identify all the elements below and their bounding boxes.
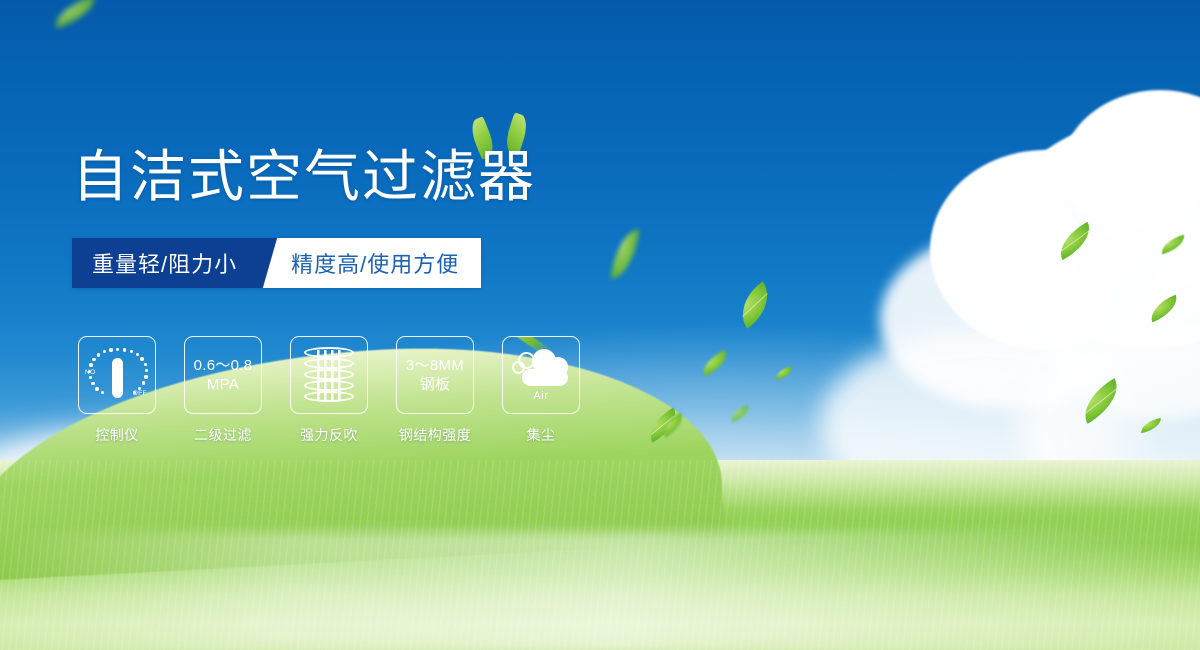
cloud-base <box>522 369 568 386</box>
dial-needle <box>112 358 123 398</box>
filter-cartridge-icon <box>304 346 354 404</box>
banner-content: 自洁式空气过滤器 重量轻/阻力小 精度高/使用方便 <box>0 0 1200 650</box>
air-label: Air <box>533 390 548 402</box>
feature-label: 钢结构强度 <box>399 425 472 445</box>
dial-label-off: OFF <box>133 390 147 397</box>
feature-item-blowback[interactable]: 强力反吹 <box>290 336 368 445</box>
feature-item-control-dial[interactable]: NO OFF 控制仪 <box>78 336 156 445</box>
subtitle-right: 精度高/使用方便 <box>285 238 481 288</box>
subtitle-divider <box>259 238 285 288</box>
pressure-text-icon-line2: MPA <box>207 375 239 394</box>
feature-icon-box: 0.6～0.8 MPA <box>184 336 262 414</box>
page-title: 自洁式空气过滤器 <box>72 146 536 208</box>
feature-label: 控制仪 <box>95 425 139 445</box>
feature-icon-box: 3～8MM 钢板 <box>396 336 474 414</box>
feature-label: 集尘 <box>527 425 556 445</box>
steel-plate-text-icon-line1: 3～8MM <box>406 356 464 375</box>
feature-icon-box <box>290 336 368 414</box>
feature-icon-box: Air <box>502 336 580 414</box>
feature-list: NO OFF 控制仪 0.6～0.8 MPA 二级过滤 <box>78 336 580 445</box>
subtitle-bar: 重量轻/阻力小 精度高/使用方便 <box>72 238 481 288</box>
steel-plate-text-icon-line2: 钢板 <box>420 375 451 394</box>
dial-label-on: NO <box>85 369 96 376</box>
subtitle-left: 重量轻/阻力小 <box>72 238 259 288</box>
dust-cloud-icon <box>512 349 570 389</box>
feature-item-pressure[interactable]: 0.6～0.8 MPA 二级过滤 <box>184 336 262 445</box>
feature-label: 强力反吹 <box>300 425 358 445</box>
control-dial-icon: NO OFF <box>86 344 148 406</box>
product-banner: 自洁式空气过滤器 重量轻/阻力小 精度高/使用方便 <box>0 0 1200 650</box>
feature-item-steel-plate[interactable]: 3～8MM 钢板 钢结构强度 <box>396 336 474 445</box>
feature-icon-box: NO OFF <box>78 336 156 414</box>
feature-item-dust-collection[interactable]: Air 集尘 <box>502 336 580 445</box>
pressure-text-icon-line1: 0.6～0.8 <box>194 356 253 375</box>
feature-label: 二级过滤 <box>194 425 252 445</box>
